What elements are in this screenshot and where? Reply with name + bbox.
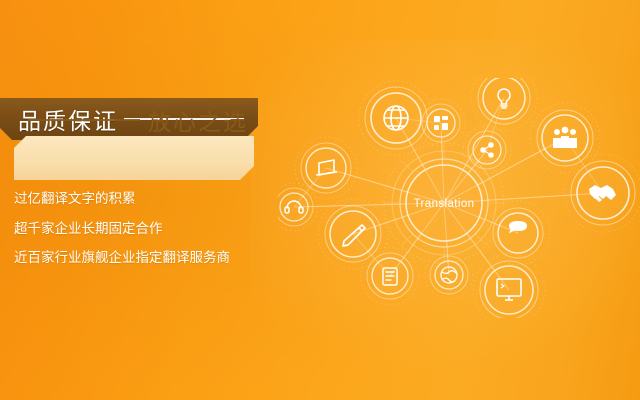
network-node-people — [530, 103, 600, 173]
network-node-earth — [425, 251, 473, 299]
banner-image: 品质保证 放心之选 过亿翻译文字的积累 超千家企业长期固定合作 近百家行业旗舰企… — [0, 0, 640, 400]
translation-network-graphic: Translation — [278, 78, 640, 318]
network-node-share — [463, 126, 511, 174]
network-node-laptop — [295, 137, 357, 199]
feature-list-item: 过亿翻译文字的积累 — [14, 192, 274, 206]
network-node-lightbulb — [471, 78, 537, 131]
network-node-document — [361, 247, 419, 305]
network-center-label: Translation — [414, 198, 475, 210]
feature-list-item: 超千家企业长期固定合作 — [14, 222, 274, 236]
network-node-handshake — [564, 154, 640, 232]
banner-bottom-band — [14, 136, 254, 180]
feature-list: 过亿翻译文字的积累 超千家企业长期固定合作 近百家行业旗舰企业指定翻译服务商 — [14, 192, 274, 281]
promo-banner: 品质保证 放心之选 — [0, 98, 262, 180]
feature-list-item: 近百家行业旗舰企业指定翻译服务商 — [14, 251, 274, 265]
network-node-globe — [359, 81, 433, 155]
network-node-pencil — [318, 199, 388, 269]
banner-bottom-content: 放心之选 — [28, 98, 248, 142]
banner-title-secondary: 放心之选 — [148, 103, 248, 137]
banner-rule-dark — [28, 119, 140, 121]
globe-icon — [384, 106, 408, 130]
